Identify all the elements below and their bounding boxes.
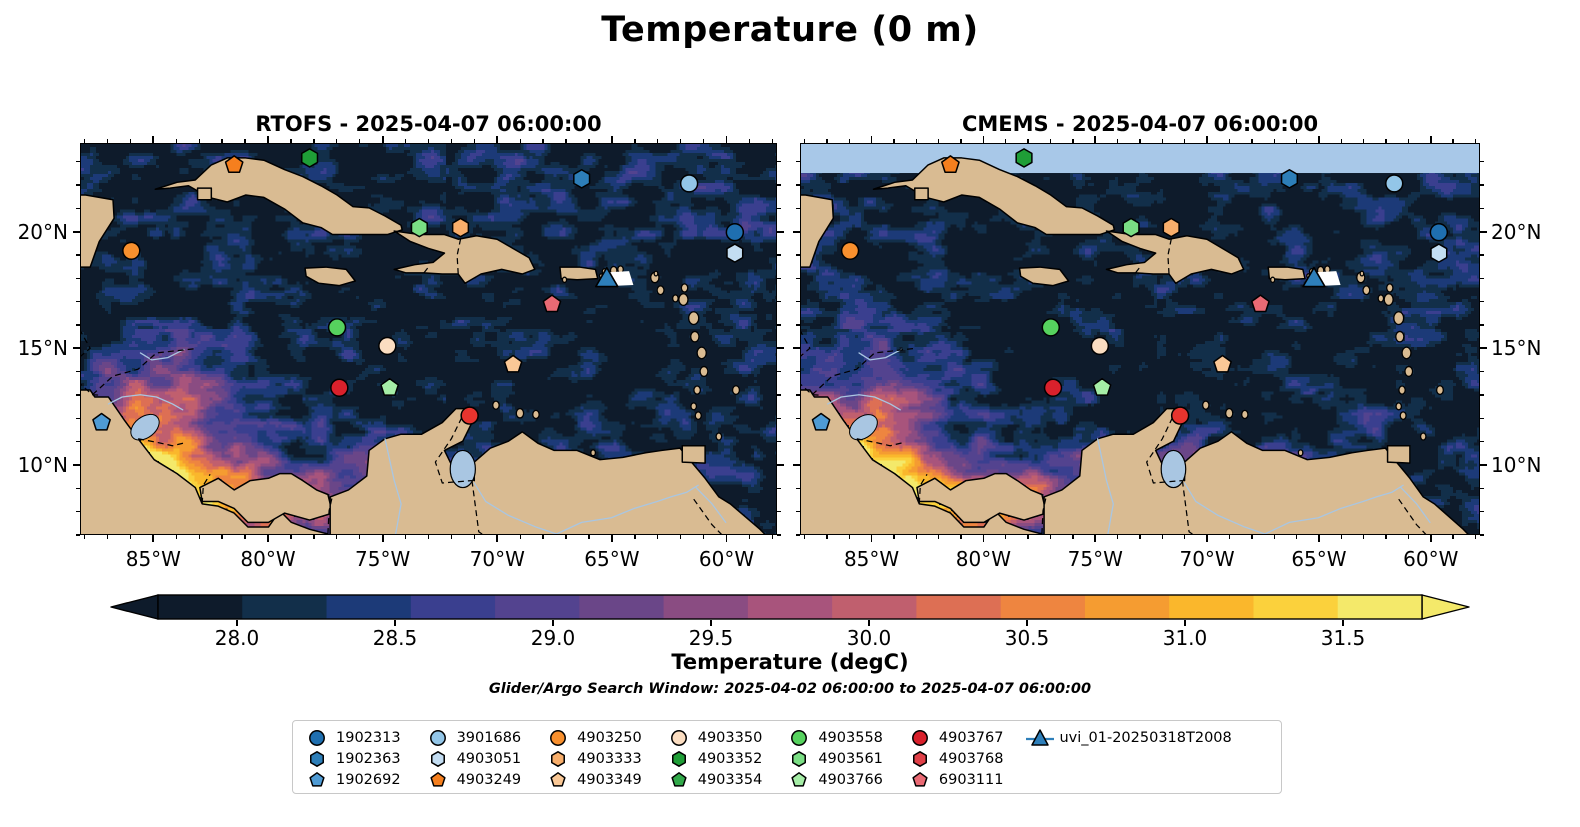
legend-item[interactable]: 4903249 — [423, 769, 522, 790]
legend-marker — [423, 770, 453, 790]
lon-minor-tick — [703, 535, 704, 539]
colorbar-tick-label: 31.5 — [1293, 626, 1393, 650]
lon-minor-tick — [244, 535, 245, 539]
lat-major-tick — [73, 464, 80, 466]
lon-minor-tick-top — [84, 139, 85, 143]
legend-marker-glider-icon — [1025, 728, 1055, 748]
lon-minor-tick-top — [657, 139, 658, 143]
lon-minor-tick — [542, 535, 543, 539]
legend-marker — [302, 770, 332, 790]
lon-minor-tick-top — [1296, 139, 1297, 143]
legend-marker — [784, 728, 814, 748]
colorbar-tick-label: 29.5 — [661, 626, 761, 650]
lat-minor-tick — [76, 371, 80, 372]
lon-minor-tick — [336, 535, 337, 539]
lon-minor-tick — [938, 535, 939, 539]
lon-minor-tick — [804, 535, 805, 539]
lat-minor-tick-right — [1480, 534, 1484, 535]
lat-minor-tick — [76, 488, 80, 489]
map-marker[interactable] — [411, 219, 427, 237]
lon-major-tick-top — [1318, 136, 1320, 143]
lon-major-tick — [267, 535, 269, 542]
legend-item[interactable]: 4903350 — [664, 727, 763, 748]
lat-major-tick-right — [777, 231, 784, 233]
lon-minor-tick — [130, 535, 131, 539]
colorbar-tick-label: 31.0 — [1135, 626, 1235, 650]
lon-minor-tick — [826, 535, 827, 539]
legend-marker — [784, 749, 814, 769]
marker-legend: 1902313190236319026923901686490305149032… — [292, 720, 1282, 794]
lat-major-tick — [73, 347, 80, 349]
search-window-caption: Glider/Argo Search Window: 2025-04-02 06… — [0, 681, 1580, 697]
legend-marker-hexagon-icon — [664, 749, 694, 769]
legend-marker-hexagon-icon — [302, 749, 332, 769]
lat-minor-tick — [796, 184, 800, 185]
map-marker[interactable] — [1282, 170, 1298, 188]
lon-tick-label: 70°W — [452, 547, 542, 571]
lat-minor-tick — [796, 534, 800, 535]
panel-title-cmems: CMEMS - 2025-04-07 06:00:00 — [800, 112, 1480, 136]
legend-marker — [664, 770, 694, 790]
legend-label: 4903250 — [573, 730, 642, 746]
lat-minor-tick-right — [777, 184, 781, 185]
legend-label: 1902313 — [332, 730, 401, 746]
map-marker[interactable] — [1123, 219, 1139, 237]
legend-label: 4903766 — [814, 772, 883, 788]
legend-marker-hexagon-icon — [543, 749, 573, 769]
legend-marker-circle-icon — [423, 728, 453, 748]
legend-marker — [302, 749, 332, 769]
legend-marker — [784, 770, 814, 790]
lat-minor-tick-right — [1480, 301, 1484, 302]
legend-item[interactable]: 6903111 — [905, 769, 1004, 790]
lon-minor-tick — [1072, 535, 1073, 539]
lat-minor-tick-right — [777, 418, 781, 419]
colorbar-tick-label: 28.0 — [187, 626, 287, 650]
map-marker[interactable] — [123, 242, 140, 259]
lat-minor-tick-right — [777, 488, 781, 489]
map-marker[interactable] — [681, 175, 698, 192]
lon-major-tick — [1430, 535, 1432, 542]
map-panel-rtofs[interactable] — [80, 143, 777, 535]
map-marker[interactable] — [461, 407, 478, 424]
lon-minor-tick-top — [1050, 139, 1051, 143]
lon-minor-tick — [451, 535, 452, 539]
lon-minor-tick — [1408, 535, 1409, 539]
lon-minor-tick — [1005, 535, 1006, 539]
lon-tick-label: 65°W — [1274, 547, 1364, 571]
map-marker[interactable] — [1386, 175, 1403, 192]
lon-minor-tick — [657, 535, 658, 539]
lon-major-tick — [983, 535, 985, 542]
lon-major-tick — [152, 535, 154, 542]
lon-tick-label: 75°W — [338, 547, 428, 571]
lon-minor-tick-top — [849, 139, 850, 143]
lon-tick-label: 60°W — [1386, 547, 1476, 571]
legend-item[interactable]: 4903768 — [905, 748, 1004, 769]
legend-marker-hexagon-icon — [423, 749, 453, 769]
lon-minor-tick-top — [565, 139, 566, 143]
lon-minor-tick — [634, 535, 635, 539]
lat-minor-tick — [76, 301, 80, 302]
legend-item[interactable]: 4903354 — [664, 769, 763, 790]
lon-minor-tick-top — [634, 139, 635, 143]
lon-minor-tick — [1139, 535, 1140, 539]
legend-item[interactable]: 4903051 — [423, 748, 522, 769]
lon-major-tick — [611, 535, 613, 542]
lat-minor-tick-right — [777, 371, 781, 372]
lat-minor-tick-right — [1480, 254, 1484, 255]
legend-marker — [423, 728, 453, 748]
map-panel-cmems[interactable] — [800, 143, 1480, 535]
legend-marker-pentagon-icon — [543, 770, 573, 790]
lon-minor-tick-top — [428, 139, 429, 143]
legend-marker — [543, 770, 573, 790]
lon-minor-tick — [749, 535, 750, 539]
lat-minor-tick — [76, 184, 80, 185]
map-marker[interactable] — [1431, 244, 1447, 262]
map-marker[interactable] — [574, 170, 590, 188]
lon-minor-tick — [520, 535, 521, 539]
lat-tick-label: 20°N — [1491, 222, 1579, 242]
lat-major-tick-right — [1480, 231, 1487, 233]
lon-minor-tick — [1162, 535, 1163, 539]
lat-minor-tick-right — [1480, 371, 1484, 372]
lon-minor-tick-top — [474, 139, 475, 143]
lat-tick-label: 10°N — [0, 455, 68, 475]
lon-minor-tick — [1050, 535, 1051, 539]
lat-major-tick — [793, 231, 800, 233]
legend-label: uvi_01-20250318T2008 — [1055, 730, 1231, 746]
legend-label: 4903768 — [935, 751, 1004, 767]
lat-minor-tick — [76, 534, 80, 535]
lon-minor-tick-top — [1408, 139, 1409, 143]
lon-minor-tick — [1117, 535, 1118, 539]
lon-major-tick — [496, 535, 498, 542]
lat-minor-tick-right — [1480, 161, 1484, 162]
map-marker[interactable] — [1430, 224, 1447, 241]
lat-minor-tick — [76, 394, 80, 395]
lon-minor-tick — [221, 535, 222, 539]
legend-label: 4903051 — [453, 751, 522, 767]
lon-major-tick-top — [1206, 136, 1208, 143]
lon-minor-tick — [1363, 535, 1364, 539]
map-marker[interactable] — [1042, 319, 1059, 336]
lon-minor-tick-top — [1072, 139, 1073, 143]
lat-minor-tick-right — [777, 441, 781, 442]
lon-major-tick-top — [1430, 136, 1432, 143]
legend-label: 3901686 — [453, 730, 522, 746]
lon-minor-tick-top — [359, 139, 360, 143]
lat-minor-tick-right — [1480, 394, 1484, 395]
legend-marker — [1025, 728, 1055, 748]
lon-minor-tick-top — [1341, 139, 1342, 143]
lat-minor-tick — [796, 394, 800, 395]
lon-minor-tick — [1385, 535, 1386, 539]
lon-minor-tick — [290, 535, 291, 539]
page-title: Temperature (0 m) — [0, 10, 1580, 50]
lat-minor-tick-right — [777, 208, 781, 209]
lat-tick-label: 20°N — [0, 222, 68, 242]
lon-minor-tick-top — [336, 139, 337, 143]
map-marker[interactable] — [329, 319, 346, 336]
lon-minor-tick — [405, 535, 406, 539]
map-marker[interactable] — [1172, 407, 1189, 424]
legend-item[interactable]: 3901686 — [423, 727, 522, 748]
lon-minor-tick-top — [960, 139, 961, 143]
lon-minor-tick-top — [520, 139, 521, 143]
lat-minor-tick — [796, 324, 800, 325]
legend-label: 4903352 — [694, 751, 763, 767]
lon-minor-tick — [1027, 535, 1028, 539]
lon-major-tick-top — [267, 136, 269, 143]
lon-minor-tick-top — [1005, 139, 1006, 143]
lon-minor-tick — [680, 535, 681, 539]
lat-major-tick — [73, 231, 80, 233]
lon-major-tick — [726, 535, 728, 542]
lon-minor-tick-top — [749, 139, 750, 143]
lat-minor-tick-right — [1480, 418, 1484, 419]
lon-minor-tick-top — [1117, 139, 1118, 143]
lon-minor-tick-top — [313, 139, 314, 143]
map-marker[interactable] — [302, 149, 318, 167]
legend-grid: 1902313190236319026923901686490305149032… — [302, 727, 1232, 790]
legend-marker — [905, 749, 935, 769]
lat-minor-tick — [796, 418, 800, 419]
legend-label: 4903333 — [573, 751, 642, 767]
lon-minor-tick — [359, 535, 360, 539]
panel-title-rtofs: RTOFS - 2025-04-07 06:00:00 — [80, 112, 777, 136]
legend-marker-pentagon-icon — [302, 770, 332, 790]
legend-item[interactable]: 4903250 — [543, 727, 642, 748]
map-canvas-cmems — [801, 144, 1479, 534]
legend-marker-circle-icon — [905, 728, 935, 748]
lat-minor-tick-right — [1480, 441, 1484, 442]
legend-item[interactable]: 4903766 — [784, 769, 883, 790]
lat-minor-tick — [76, 324, 80, 325]
lon-major-tick — [382, 535, 384, 542]
lat-minor-tick-right — [1480, 488, 1484, 489]
legend-item[interactable]: 4903333 — [543, 748, 642, 769]
lon-minor-tick-top — [680, 139, 681, 143]
lat-minor-tick — [796, 488, 800, 489]
lon-minor-tick-top — [1184, 139, 1185, 143]
colorbar-title: Temperature (degC) — [0, 650, 1580, 674]
lat-minor-tick — [796, 511, 800, 512]
legend-item[interactable]: 1902692 — [302, 769, 401, 790]
lat-minor-tick-right — [777, 324, 781, 325]
lat-minor-tick-right — [777, 301, 781, 302]
lon-minor-tick-top — [938, 139, 939, 143]
lon-minor-tick-top — [451, 139, 452, 143]
lat-minor-tick-right — [777, 278, 781, 279]
lon-minor-tick-top — [542, 139, 543, 143]
lat-major-tick-right — [1480, 464, 1487, 466]
lon-minor-tick-top — [1452, 139, 1453, 143]
legend-marker — [543, 749, 573, 769]
lat-minor-tick — [796, 301, 800, 302]
legend-item[interactable]: 1902313 — [302, 727, 401, 748]
map-marker[interactable] — [331, 379, 348, 396]
lat-tick-label: 15°N — [0, 338, 68, 358]
lon-minor-tick-top — [804, 139, 805, 143]
lat-minor-tick — [796, 371, 800, 372]
lon-minor-tick-top — [107, 139, 108, 143]
legend-marker-pentagon-icon — [905, 770, 935, 790]
lat-major-tick-right — [1480, 347, 1487, 349]
lon-minor-tick — [1475, 535, 1476, 539]
lon-minor-tick-top — [826, 139, 827, 143]
map-marker[interactable] — [727, 244, 743, 262]
lat-minor-tick — [76, 208, 80, 209]
legend-marker-circle-icon — [784, 728, 814, 748]
lon-minor-tick — [849, 535, 850, 539]
lon-tick-label: 70°W — [1162, 547, 1252, 571]
lon-minor-tick — [588, 535, 589, 539]
lat-minor-tick — [76, 441, 80, 442]
lon-minor-tick — [107, 535, 108, 539]
map-marker[interactable] — [379, 338, 396, 355]
lon-minor-tick-top — [1274, 139, 1275, 143]
lon-major-tick — [1206, 535, 1208, 542]
legend-label: 4903354 — [694, 772, 763, 788]
lon-minor-tick — [1184, 535, 1185, 539]
lon-minor-tick — [916, 535, 917, 539]
map-marker[interactable] — [1091, 338, 1108, 355]
lat-minor-tick-right — [1480, 324, 1484, 325]
lat-minor-tick-right — [1480, 278, 1484, 279]
legend-label: 4903249 — [453, 772, 522, 788]
lat-minor-tick — [76, 161, 80, 162]
lon-minor-tick-top — [1475, 139, 1476, 143]
lon-minor-tick — [1341, 535, 1342, 539]
legend-marker-circle-icon — [664, 728, 694, 748]
lat-minor-tick-right — [1480, 511, 1484, 512]
lon-tick-label: 80°W — [223, 547, 313, 571]
lon-minor-tick-top — [893, 139, 894, 143]
legend-item[interactable]: 4903561 — [784, 748, 883, 769]
lon-major-tick — [1318, 535, 1320, 542]
lat-minor-tick-right — [1480, 208, 1484, 209]
legend-marker-pentagon-icon — [784, 770, 814, 790]
lon-minor-tick — [1452, 535, 1453, 539]
legend-marker — [423, 749, 453, 769]
lon-minor-tick-top — [1139, 139, 1140, 143]
lon-major-tick-top — [611, 136, 613, 143]
lon-minor-tick-top — [176, 139, 177, 143]
lon-major-tick-top — [726, 136, 728, 143]
lon-major-tick — [871, 535, 873, 542]
lat-tick-label: 15°N — [1491, 338, 1579, 358]
lat-minor-tick — [76, 254, 80, 255]
legend-label: 1902692 — [332, 772, 401, 788]
lat-minor-tick-right — [777, 511, 781, 512]
map-marker[interactable] — [1016, 149, 1032, 167]
lat-minor-tick-right — [777, 394, 781, 395]
lon-tick-label: 60°W — [682, 547, 772, 571]
lat-minor-tick — [796, 208, 800, 209]
lon-minor-tick — [1251, 535, 1252, 539]
lon-minor-tick-top — [1162, 139, 1163, 143]
map-canvas-rtofs — [81, 144, 776, 534]
legend-item[interactable]: 1902363 — [302, 748, 401, 769]
lon-minor-tick-top — [1251, 139, 1252, 143]
colorbar-tick-label: 29.0 — [503, 626, 603, 650]
lon-major-tick-top — [382, 136, 384, 143]
lon-minor-tick-top — [916, 139, 917, 143]
lon-major-tick-top — [871, 136, 873, 143]
lon-minor-tick — [565, 535, 566, 539]
legend-label: 4903767 — [935, 730, 1004, 746]
legend-label: 4903561 — [814, 751, 883, 767]
legend-item[interactable]: 4903352 — [664, 748, 763, 769]
legend-marker — [664, 728, 694, 748]
lon-major-tick — [1094, 535, 1096, 542]
lon-minor-tick — [1274, 535, 1275, 539]
lat-minor-tick — [76, 511, 80, 512]
legend-label: 1902363 — [332, 751, 401, 767]
lat-minor-tick-right — [777, 254, 781, 255]
lon-major-tick-top — [496, 136, 498, 143]
lon-minor-tick-top — [290, 139, 291, 143]
lon-major-tick-top — [983, 136, 985, 143]
legend-item[interactable]: uvi_01-20250318T2008 — [1025, 727, 1231, 748]
lon-minor-tick — [960, 535, 961, 539]
legend-marker-hexagon-icon — [905, 749, 935, 769]
map-marker[interactable] — [1163, 219, 1179, 237]
lon-tick-label: 85°W — [827, 547, 917, 571]
lat-minor-tick-right — [1480, 184, 1484, 185]
legend-marker — [302, 728, 332, 748]
lon-minor-tick-top — [703, 139, 704, 143]
lon-minor-tick-top — [588, 139, 589, 143]
lon-minor-tick — [893, 535, 894, 539]
lon-minor-tick — [199, 535, 200, 539]
map-marker[interactable] — [453, 219, 469, 237]
map-marker[interactable] — [1045, 379, 1062, 396]
legend-marker-pentagon-icon — [423, 770, 453, 790]
legend-marker — [543, 728, 573, 748]
legend-item[interactable]: 4903349 — [543, 769, 642, 790]
lat-minor-tick-right — [777, 161, 781, 162]
lat-major-tick — [793, 464, 800, 466]
colorbar-tick-label: 30.5 — [977, 626, 1077, 650]
map-marker[interactable] — [842, 242, 859, 259]
legend-marker-circle-icon — [543, 728, 573, 748]
lon-major-tick-top — [1094, 136, 1096, 143]
lat-major-tick-right — [777, 347, 784, 349]
lat-minor-tick — [796, 278, 800, 279]
legend-label: 4903350 — [694, 730, 763, 746]
lat-minor-tick — [76, 418, 80, 419]
lon-minor-tick-top — [221, 139, 222, 143]
map-marker[interactable] — [726, 224, 743, 241]
lat-minor-tick — [796, 441, 800, 442]
legend-label: 6903111 — [935, 772, 1004, 788]
lon-minor-tick — [428, 535, 429, 539]
legend-item[interactable]: 4903558 — [784, 727, 883, 748]
lat-major-tick — [793, 347, 800, 349]
legend-label: 4903349 — [573, 772, 642, 788]
lon-tick-label: 85°W — [108, 547, 198, 571]
legend-marker-hexagon-icon — [784, 749, 814, 769]
lon-minor-tick — [84, 535, 85, 539]
lon-minor-tick-top — [1385, 139, 1386, 143]
legend-item[interactable]: 4903767 — [905, 727, 1004, 748]
lon-minor-tick-top — [199, 139, 200, 143]
lat-minor-tick-right — [777, 534, 781, 535]
lon-minor-tick — [474, 535, 475, 539]
